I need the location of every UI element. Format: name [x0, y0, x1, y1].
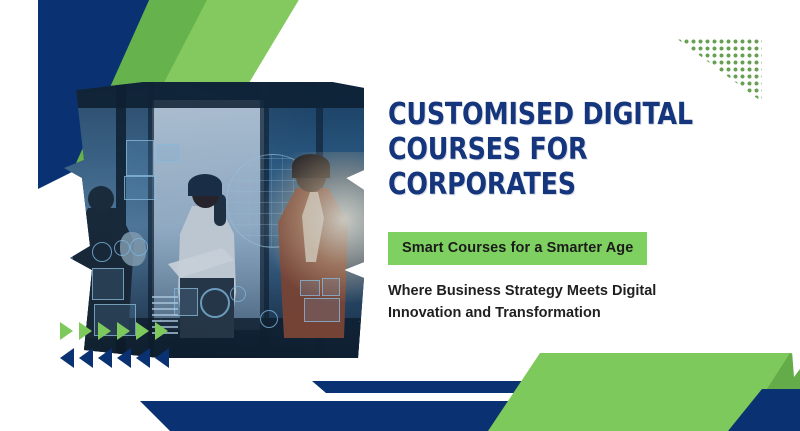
green-right-arrow-icon: [136, 322, 149, 340]
navy-left-arrow-icon: [117, 348, 131, 368]
arrow-decoration-group: [60, 322, 180, 372]
navy-left-arrow-icon: [155, 348, 169, 368]
navy-left-arrow-icon: [79, 348, 93, 368]
banner-subtext: Where Business Strategy Meets Digital In…: [388, 281, 688, 325]
bottom-navy-band: [0, 401, 560, 431]
tagline-badge: Smart Courses for a Smarter Age: [388, 232, 647, 265]
green-right-arrow-icon: [117, 322, 130, 340]
navy-left-arrow-icon: [136, 348, 150, 368]
banner-text-block: Customised Digital Courses for Corporate…: [388, 98, 760, 325]
navy-left-arrow-icon: [98, 348, 112, 368]
green-right-arrow-icon: [98, 322, 111, 340]
green-right-arrow-icon: [79, 322, 92, 340]
green-right-arrow-icon: [155, 322, 168, 340]
green-right-arrow-icon: [60, 322, 73, 340]
dotted-triangle-decoration: [676, 38, 762, 102]
promo-banner: Customised Digital Courses for Corporate…: [0, 0, 800, 431]
navy-left-arrow-icon: [60, 348, 74, 368]
photo-color-tint: [64, 82, 374, 360]
banner-headline: Customised Digital Courses for Corporate…: [388, 98, 738, 202]
hero-photo: [64, 82, 374, 360]
